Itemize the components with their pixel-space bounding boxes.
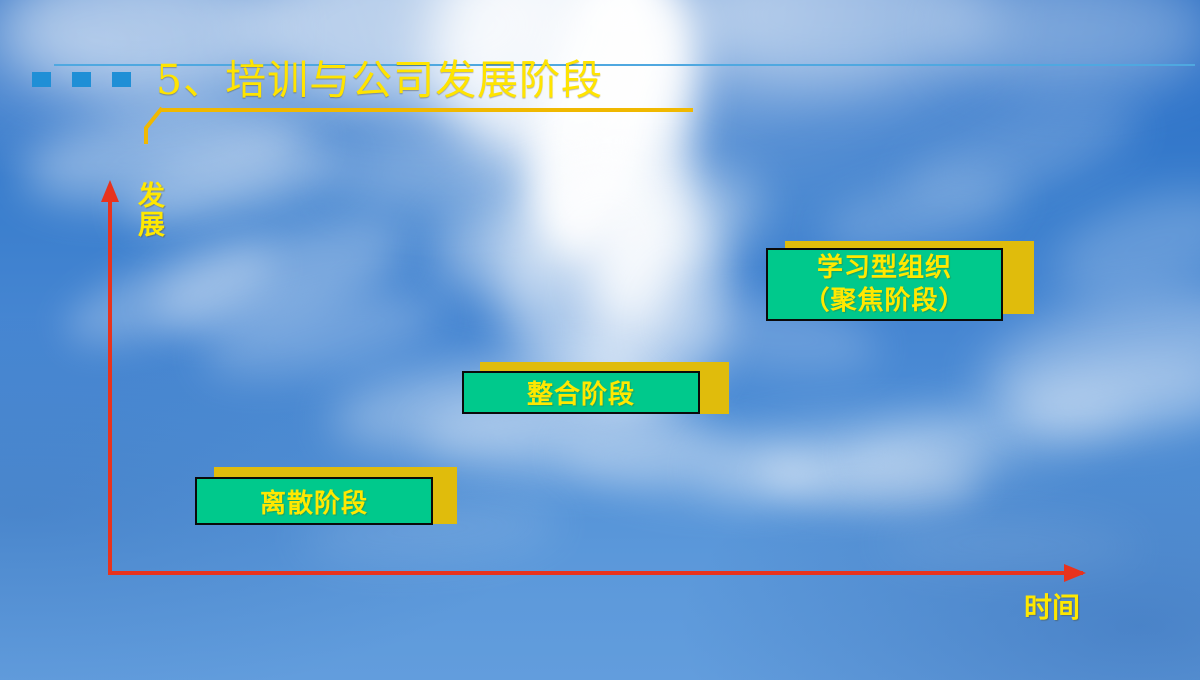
stage-box-body[interactable]: 整合阶段 [462,371,700,414]
x-axis-line [108,571,1083,575]
y-axis-line [108,196,112,575]
stage-box-body[interactable]: 学习型组织 （聚焦阶段） [766,248,1003,321]
stage-label-line1: 离散阶段 [260,483,368,520]
stage-label-line1: 整合阶段 [527,374,635,411]
title-square-1-icon [32,72,51,87]
title-underline-tail-icon [140,106,164,144]
arrow-right-icon [1064,564,1086,582]
stage-box-body[interactable]: 离散阶段 [195,477,433,525]
slide-canvas: 5、培训与公司发展阶段 发展 时间 离散阶段 整合阶段 学习型组织 （聚焦阶段） [0,0,1200,680]
y-axis-label: 发展 [138,182,172,240]
stage-label-line1: 学习型组织 [817,252,952,285]
title-underline [160,108,693,112]
arrow-up-icon [101,180,119,202]
stage-label-line2: （聚焦阶段） [803,285,965,318]
title-square-2-icon [72,72,91,87]
x-axis-label: 时间 [1024,586,1080,626]
title-square-3-icon [112,72,131,87]
page-title: 5、培训与公司发展阶段 [156,54,603,106]
